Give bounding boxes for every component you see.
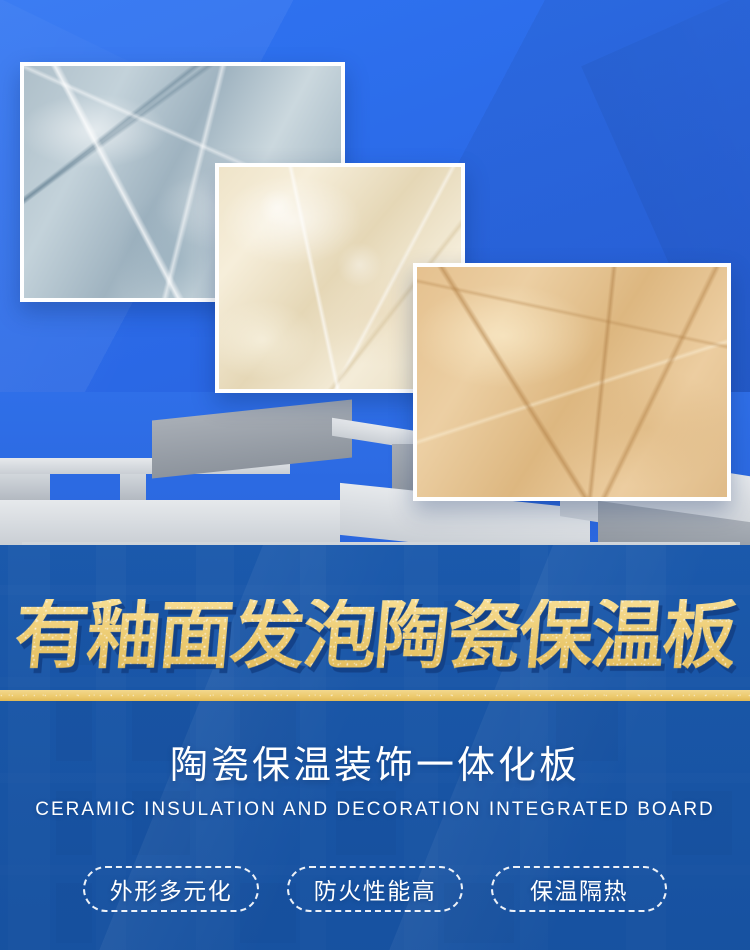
- feature-pill-row: 外形多元化 防火性能高 保温隔热: [0, 866, 750, 912]
- feature-pill-thermal-insulation[interactable]: 保温隔热: [491, 866, 667, 912]
- subtitle-chinese: 陶瓷保温装饰一体化板: [0, 742, 750, 790]
- headline-title: 有釉面发泡陶瓷保温板: [12, 599, 738, 673]
- feature-pill-fire-resistance[interactable]: 防火性能高: [287, 866, 463, 912]
- subtitle-english: CERAMIC INSULATION AND DECORATION INTEGR…: [0, 799, 750, 821]
- tile-veining: [417, 267, 727, 497]
- headline-container: 有釉面发泡陶瓷保温板: [0, 590, 750, 682]
- feature-pill-shape-diversity[interactable]: 外形多元化: [83, 866, 259, 912]
- building-column: [0, 474, 50, 500]
- gold-divider-bar: [0, 690, 750, 701]
- building-column: [120, 474, 146, 500]
- product-promo-banner: 有釉面发泡陶瓷保温板 陶瓷保温装饰一体化板 CERAMIC INSULATION…: [0, 0, 750, 950]
- product-tile-golden-marble[interactable]: [413, 263, 731, 501]
- building-facade-panel: [0, 500, 340, 546]
